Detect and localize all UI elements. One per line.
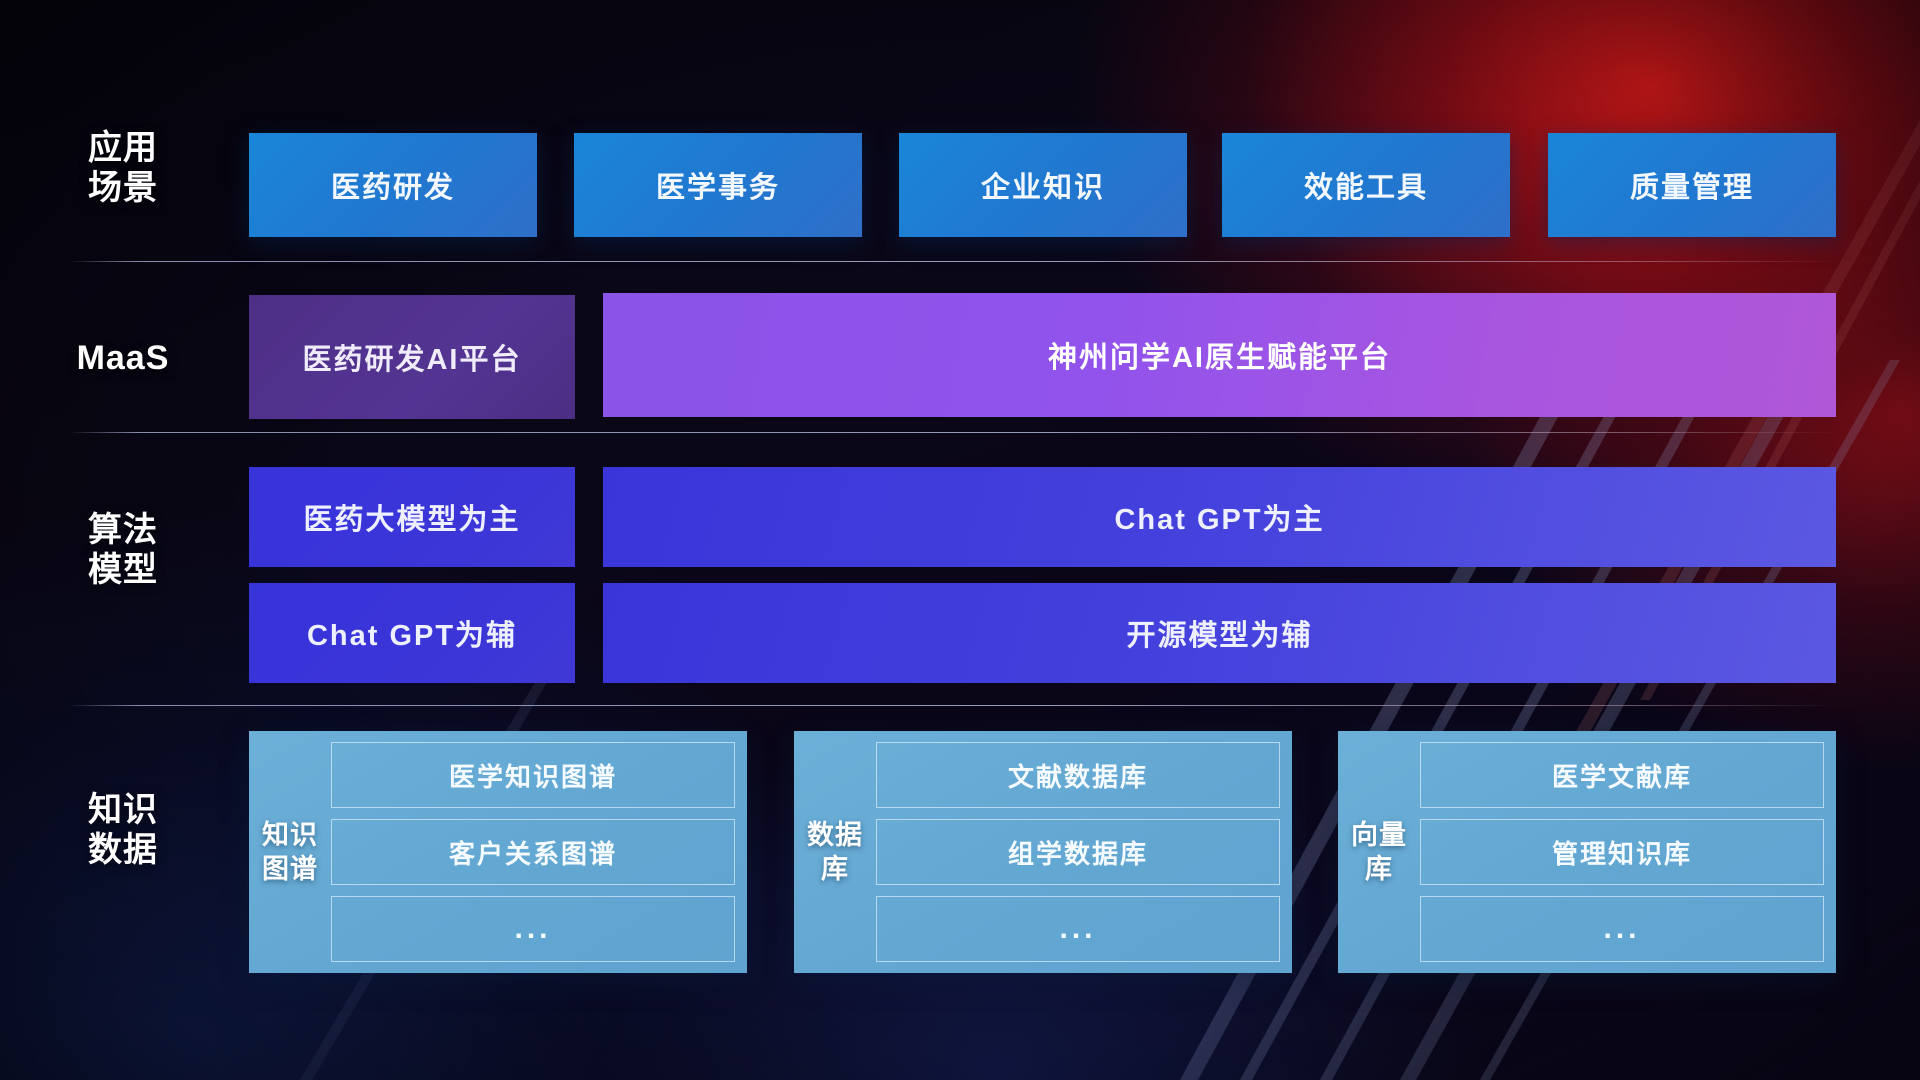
knowledge-panel-knowledge-graph[interactable]: 知识图谱 医学知识图谱 客户关系图谱 ... (249, 731, 747, 973)
row-label-line: 模型 (28, 550, 218, 590)
knowledge-panel-items: 医学知识图谱 客户关系图谱 ... (331, 742, 735, 962)
knowledge-item[interactable]: 客户关系图谱 (331, 819, 735, 885)
algorithm-right-box-1[interactable]: Chat GPT为主 (603, 467, 1836, 567)
algorithm-left-box-2[interactable]: Chat GPT为辅 (249, 583, 575, 683)
maas-left-box[interactable]: 医药研发AI平台 (249, 295, 575, 419)
knowledge-item[interactable]: 医学知识图谱 (331, 742, 735, 808)
slide-canvas: 应用 场景 医药研发 医学事务 企业知识 效能工具 质量管理 MaaS 医药研发… (0, 0, 1920, 1080)
row-divider-1 (68, 261, 1838, 262)
row-label-line: 知识 (28, 790, 218, 830)
knowledge-panel-title: 知识图谱 (259, 742, 321, 962)
row-label-application-scenarios: 应用 场景 (28, 128, 218, 208)
algorithm-right-box-2[interactable]: 开源模型为辅 (603, 583, 1836, 683)
row-label-line: 应用 (28, 128, 218, 168)
row-label-line: 场景 (28, 168, 218, 208)
app-scenario-box-3[interactable]: 企业知识 (899, 133, 1187, 237)
app-scenario-box-4[interactable]: 效能工具 (1222, 133, 1510, 237)
knowledge-item-more[interactable]: ... (876, 896, 1280, 962)
maas-left-label: 医药研发AI平台 (302, 336, 521, 378)
algorithm-label: Chat GPT为辅 (307, 612, 517, 654)
maas-right-label: 神州问学AI原生赋能平台 (1048, 334, 1391, 376)
app-scenario-label: 医学事务 (656, 164, 780, 206)
app-scenario-box-5[interactable]: 质量管理 (1548, 133, 1836, 237)
knowledge-panel-items: 医学文献库 管理知识库 ... (1420, 742, 1824, 962)
knowledge-item-more[interactable]: ... (331, 896, 735, 962)
algorithm-label: Chat GPT为主 (1114, 496, 1324, 538)
algorithm-left-box-1[interactable]: 医药大模型为主 (249, 467, 575, 567)
row-label-line: MaaS (28, 338, 218, 378)
knowledge-panel-database[interactable]: 数据库 文献数据库 组学数据库 ... (794, 731, 1292, 973)
diagram-content: 应用 场景 医药研发 医学事务 企业知识 效能工具 质量管理 MaaS 医药研发… (0, 0, 1920, 1080)
row-label-algorithm-model: 算法 模型 (28, 510, 218, 590)
knowledge-panel-items: 文献数据库 组学数据库 ... (876, 742, 1280, 962)
knowledge-item[interactable]: 医学文献库 (1420, 742, 1824, 808)
knowledge-panel-title: 向量库 (1348, 742, 1410, 962)
algorithm-label: 开源模型为辅 (1126, 612, 1312, 654)
row-divider-3 (68, 705, 1838, 706)
algorithm-label: 医药大模型为主 (303, 496, 520, 538)
knowledge-panel-vector-store[interactable]: 向量库 医学文献库 管理知识库 ... (1338, 731, 1836, 973)
knowledge-item[interactable]: 组学数据库 (876, 819, 1280, 885)
maas-right-box[interactable]: 神州问学AI原生赋能平台 (603, 293, 1836, 417)
app-scenario-label: 效能工具 (1304, 164, 1428, 206)
knowledge-item-more[interactable]: ... (1420, 896, 1824, 962)
row-label-line: 数据 (28, 830, 218, 870)
app-scenario-box-1[interactable]: 医药研发 (249, 133, 537, 237)
app-scenario-label: 医药研发 (331, 164, 455, 206)
knowledge-item[interactable]: 管理知识库 (1420, 819, 1824, 885)
app-scenario-label: 企业知识 (981, 164, 1105, 206)
knowledge-item[interactable]: 文献数据库 (876, 742, 1280, 808)
row-label-maas: MaaS (28, 338, 218, 378)
row-label-line: 算法 (28, 510, 218, 550)
row-label-knowledge-data: 知识 数据 (28, 790, 218, 870)
app-scenario-label: 质量管理 (1630, 164, 1754, 206)
row-divider-2 (68, 432, 1838, 433)
app-scenario-box-2[interactable]: 医学事务 (574, 133, 862, 237)
knowledge-panel-title: 数据库 (804, 742, 866, 962)
